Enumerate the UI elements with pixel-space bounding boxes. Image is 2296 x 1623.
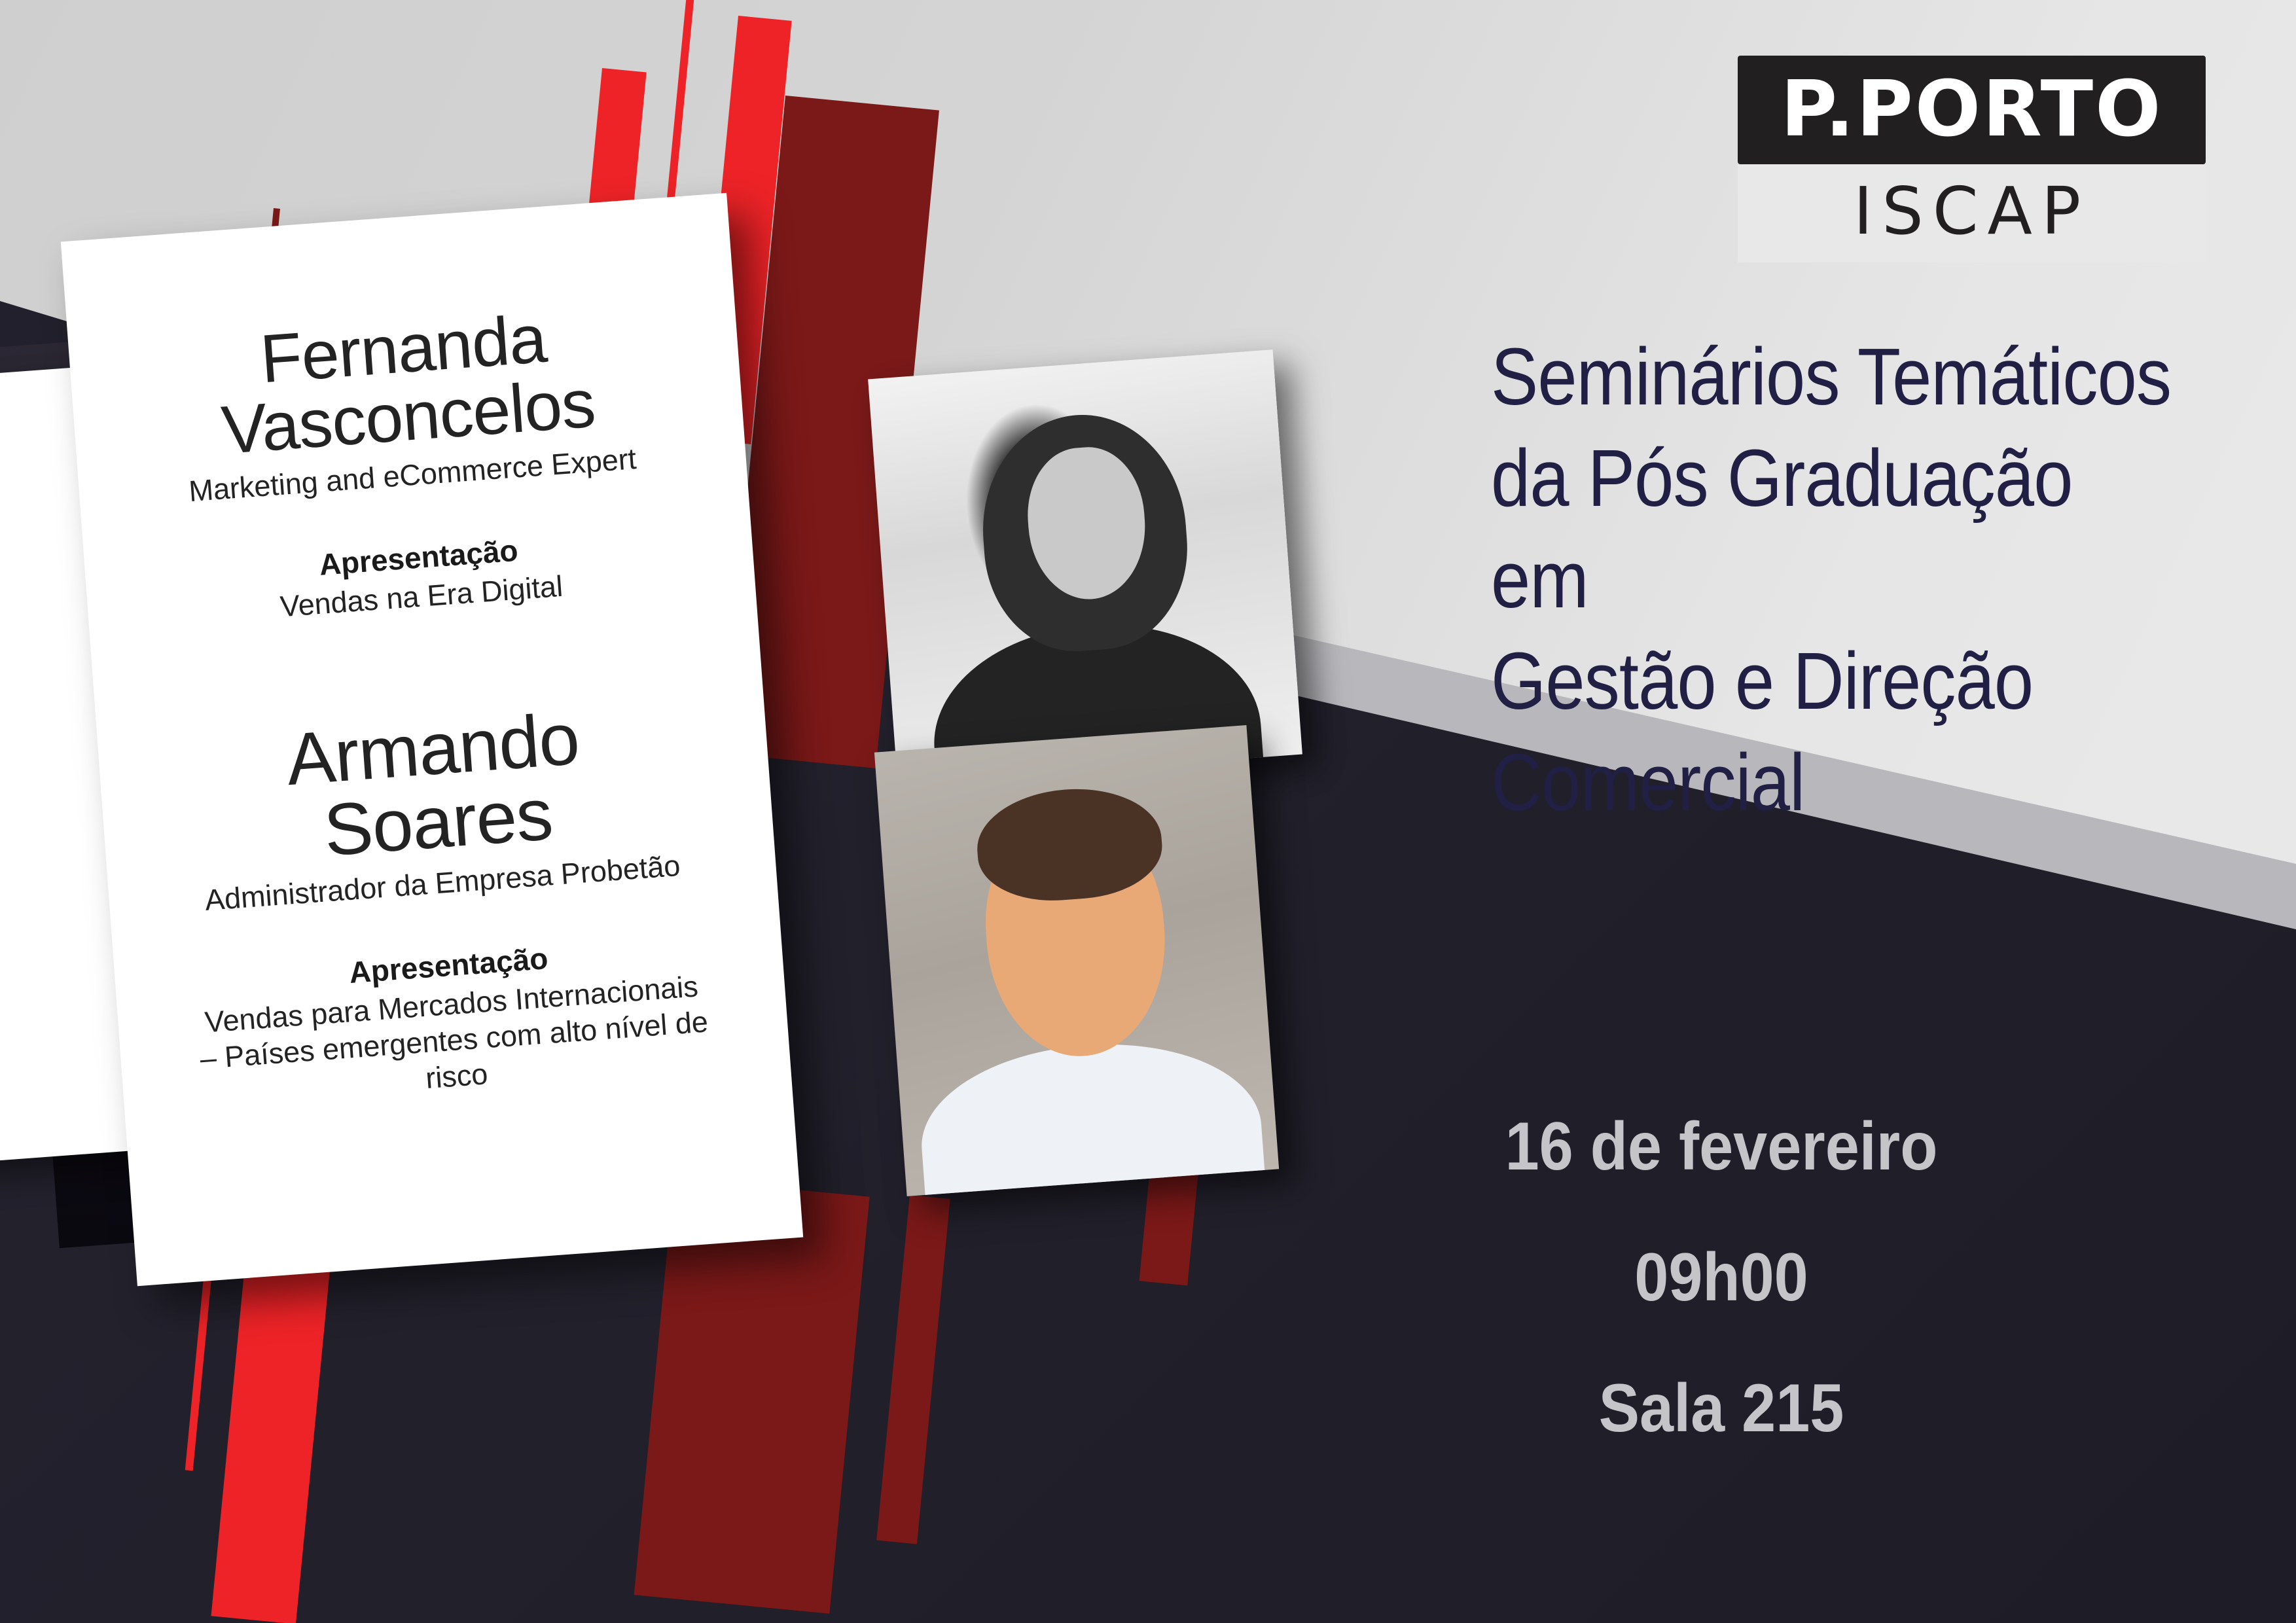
speaker-2-photo xyxy=(874,725,1279,1196)
page-title-line-4: Comercial xyxy=(1491,733,2176,834)
speaker-1-photo xyxy=(868,349,1302,784)
speaker-1-name: Fernanda Vasconcelos xyxy=(146,296,665,470)
logo-iscap-wordmark: ISCAP xyxy=(1738,164,2206,262)
event-time: 09h00 xyxy=(1456,1243,1986,1311)
page-title-line-1: Seminários Temáticos xyxy=(1491,327,2176,429)
event-room: Sala 215 xyxy=(1456,1374,1986,1442)
page-title-line-2: da Pós Graduação em xyxy=(1491,429,2176,632)
speaker-2-name: Armando Soares xyxy=(175,694,695,878)
page-title-line-3: Gestão e Direção xyxy=(1491,632,2176,733)
event-details: 16 de fevereiro 09h00 Sala 215 xyxy=(1427,1113,2016,1442)
event-date: 16 de fevereiro xyxy=(1456,1113,1986,1181)
page-title: Seminários Temáticos da Pós Graduação em… xyxy=(1491,327,2176,834)
speaker-2-photo-shirt xyxy=(915,1033,1268,1196)
pporto-iscap-logo: P.PORTO ISCAP xyxy=(1738,56,2206,262)
speaker-block-2: Armando Soares Administrador da Empresa … xyxy=(175,694,713,1113)
logo-pporto-wordmark: P.PORTO xyxy=(1738,56,2206,164)
speaker-block-1: Fernanda Vasconcelos Marketing and eComm… xyxy=(146,296,677,633)
speaker-card-content: Fernanda Vasconcelos Marketing and eComm… xyxy=(146,296,712,1113)
speaker-card: Fernanda Vasconcelos Marketing and eComm… xyxy=(61,193,803,1286)
event-poster: Fernanda Vasconcelos Marketing and eComm… xyxy=(0,0,2296,1623)
